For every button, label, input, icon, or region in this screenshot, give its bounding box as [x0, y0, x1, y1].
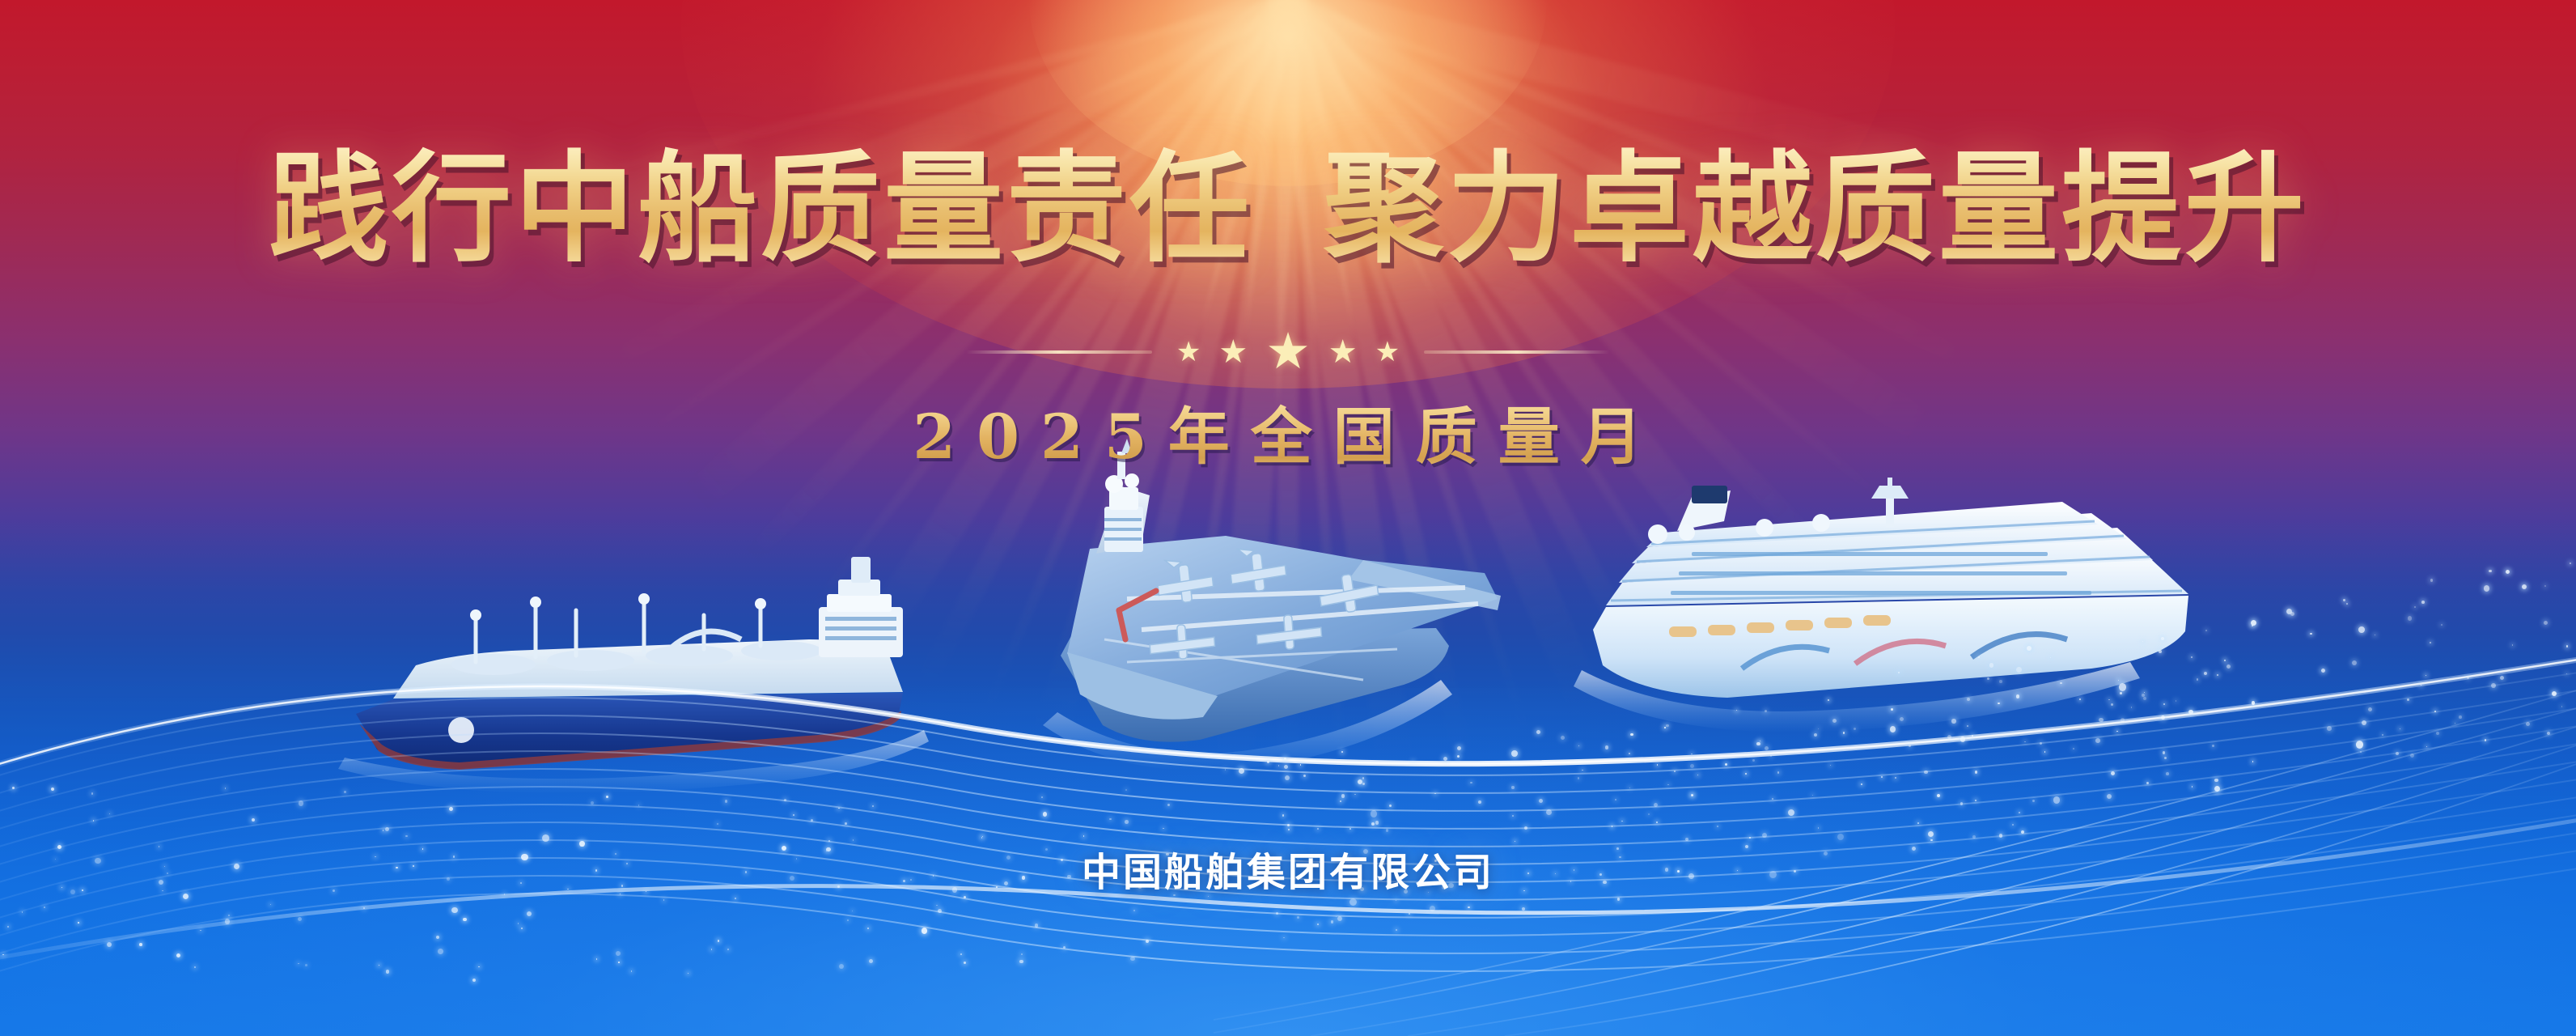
ocean-gradient — [0, 518, 2576, 1036]
sparkle-dot — [1749, 837, 1751, 839]
sparkle-dot — [2204, 672, 2207, 675]
sparkle-dot — [1276, 912, 1278, 915]
sparkle-dot — [2566, 645, 2568, 647]
sparkle-dot — [1760, 741, 1760, 741]
sparkle-dot — [2343, 599, 2345, 601]
sparkle-dot — [1346, 856, 1349, 859]
sparkle-dot — [1478, 800, 1481, 804]
sparkle-dot — [1692, 795, 1693, 796]
sparkle-dot — [845, 822, 847, 825]
sparkle-dot — [1999, 834, 2003, 838]
sparkle-dot — [451, 907, 458, 914]
sparkle-dot — [2252, 701, 2255, 704]
sparkle-dot — [1409, 913, 1410, 915]
sparkle-dot — [1843, 732, 1845, 733]
sparkle-dot — [2544, 585, 2546, 587]
sparkle-dot — [616, 951, 621, 957]
sparkle-dot — [1928, 831, 1934, 837]
quality-month-banner: 践行中船质量责任聚力卓越质量提升 ★ ★ ★ ★ ★ 2025年全国质量月 中国… — [0, 0, 2576, 1036]
sparkle-dot — [1615, 799, 1616, 800]
sparkle-dot — [2144, 692, 2146, 694]
sparkle-dot — [2214, 786, 2220, 792]
sparkle-dot — [2400, 728, 2400, 729]
sparkle-dot — [1239, 768, 1244, 774]
sparkle-dot — [1924, 771, 1928, 775]
sparkle-dot — [1685, 838, 1688, 841]
sparkle-dot — [1267, 761, 1269, 763]
page-title: 践行中船质量责任聚力卓越质量提升 — [0, 142, 2576, 277]
sparkle-dot — [1375, 821, 1379, 824]
sparkle-dot — [1960, 737, 1966, 742]
sparkle-dot — [591, 801, 594, 805]
sparkle-dot — [2251, 620, 2256, 626]
sparkle-dot — [2408, 616, 2413, 621]
sparkle-dot — [1468, 906, 1470, 909]
sparkle-dot — [176, 953, 180, 957]
sparkle-dot — [1648, 813, 1650, 815]
sparkle-dot — [1083, 835, 1084, 836]
sparkle-dot — [952, 887, 958, 893]
sparkle-dot — [646, 891, 647, 893]
sparkle-dot — [936, 905, 938, 906]
sparkle-dot — [2060, 682, 2062, 685]
sparkle-dot — [55, 859, 57, 860]
sea-sheen — [0, 688, 2576, 1036]
sparkle-dot — [1396, 900, 1396, 901]
ray-line — [662, 0, 1292, 800]
sparkle-dot — [1125, 820, 1129, 824]
sparkle-dot — [82, 890, 83, 891]
sparkle-dot — [1546, 809, 1552, 815]
sparkle-dot — [1881, 776, 1883, 778]
sparkle-dot — [1442, 885, 1446, 890]
sparkle-dot — [1167, 804, 1170, 806]
sparkle-dot — [2430, 642, 2431, 643]
sparkle-dot — [1138, 886, 1142, 890]
sparkle-dot — [1282, 814, 1285, 817]
sparkle-dot — [1617, 898, 1620, 900]
sparkle-dot — [2119, 683, 2127, 691]
sparkle-dot — [504, 894, 505, 894]
sparkle-dot — [234, 864, 239, 869]
sparkle-dot — [826, 851, 827, 851]
sparkle-dot — [869, 959, 873, 963]
sparkle-dot — [2012, 824, 2014, 826]
sun-glow — [681, 0, 1895, 388]
sparkle-dot — [1697, 775, 1698, 775]
sparkle-dot — [2522, 584, 2527, 589]
sparkle-dot — [472, 979, 477, 983]
star-icon: ★ — [1265, 327, 1311, 377]
sparkle-dot — [1457, 755, 1460, 758]
sparkle-dot — [2561, 706, 2562, 707]
sparkle-dot — [1978, 656, 1980, 658]
sparkle-dot — [867, 928, 869, 929]
sparkle-dot — [1677, 870, 1680, 873]
sparkle-dot — [2164, 757, 2167, 759]
sparkle-dot — [1555, 873, 1557, 875]
sparkle-dot — [2421, 601, 2425, 604]
sparkle-dot — [1288, 829, 1290, 830]
ray-line — [1283, 0, 2273, 263]
sparkle-dot — [1448, 883, 1454, 889]
subtitle: 2025年全国质量月 — [913, 387, 1663, 476]
sparkle-dot — [2407, 698, 2409, 701]
sparkle-dot — [1737, 870, 1738, 871]
sparkle-dot — [579, 841, 584, 846]
sparkle-dot — [70, 890, 75, 894]
sparkle-dot — [1674, 771, 1676, 772]
sparkle-dot — [139, 943, 142, 946]
sparkle-dot — [1109, 818, 1112, 821]
sparkle-dot — [1975, 800, 1976, 801]
sparkle-dot — [938, 909, 942, 913]
sparkle-dot — [2143, 697, 2146, 700]
sparkle-dot — [784, 799, 786, 801]
sparkle-dot — [1947, 735, 1951, 739]
sparkle-dot — [1035, 923, 1038, 927]
ray-line — [1283, 0, 1363, 1009]
sparkle-dot — [93, 820, 94, 821]
sparkle-dot — [2290, 612, 2294, 616]
sparkle-dot — [1599, 873, 1602, 876]
sparkle-dot — [1457, 746, 1461, 750]
sparkle-dot — [2161, 715, 2165, 720]
sparkle-dot — [2382, 734, 2383, 736]
sparkle-dot — [1477, 862, 1481, 867]
sparkle-dot — [688, 973, 688, 974]
sparkle-dot — [1284, 758, 1286, 760]
sparkle-dot — [1574, 869, 1575, 871]
sparkle-dot — [1019, 960, 1023, 964]
sparkle-dot — [200, 930, 201, 931]
sparkle-dot — [1063, 946, 1066, 949]
sparkle-dot — [1619, 856, 1621, 859]
sparkle-dot — [1752, 759, 1755, 762]
sparkle-dot — [1371, 822, 1375, 826]
sparkle-dot — [1582, 770, 1582, 771]
ray-line — [1142, 0, 1293, 1003]
sparkle-dot — [2166, 772, 2169, 775]
sparkle-dot — [960, 953, 962, 955]
sparkle-dot — [735, 898, 736, 899]
sparkle-dot — [1989, 663, 1993, 667]
sparkle-dot — [2441, 624, 2443, 626]
sparkle-dot — [521, 854, 528, 861]
sparkle-dot — [2489, 570, 2492, 573]
sparkle-dot — [2079, 698, 2081, 700]
sparkle-dot — [2044, 751, 2045, 752]
sparkle-dot — [1756, 742, 1760, 746]
sparkle-dot — [2024, 741, 2025, 742]
sparkle-dot — [520, 882, 522, 884]
sparkle-dot — [1041, 796, 1043, 798]
sparkle-dot — [1341, 751, 1343, 753]
sparkle-dot — [1972, 835, 1976, 839]
sparkle-dot — [51, 788, 54, 791]
sparkle-dot — [2212, 745, 2215, 748]
sparkle-dot — [727, 949, 730, 951]
sparkle-dot — [663, 899, 665, 901]
sparkle-dot — [1818, 728, 1819, 729]
sparkle-dot — [7, 926, 9, 928]
sparkle-dot — [1354, 794, 1356, 796]
sparkle-dot — [2352, 660, 2357, 665]
sparkle-dot — [1389, 805, 1392, 807]
sparkle-dot — [2163, 751, 2166, 754]
sparkle-dot — [717, 823, 718, 825]
sparkle-dot — [1691, 754, 1693, 755]
sparkle-dot — [478, 966, 480, 968]
sparkle-dot — [1769, 871, 1777, 878]
sparkle-dot — [159, 846, 160, 847]
sparkle-dot — [2362, 720, 2366, 725]
sparkle-dot — [1125, 789, 1127, 791]
sparkle-dot — [2455, 723, 2455, 724]
sparkle-dot — [1045, 848, 1048, 851]
sparkle-dot — [1524, 826, 1527, 830]
sparkle-dot — [1284, 765, 1288, 769]
sparkle-dot — [1666, 724, 1669, 728]
sparkle-dot — [1912, 847, 1916, 851]
sparkle-dot — [1303, 775, 1307, 778]
sparkle-dot — [1691, 794, 1693, 796]
sparkle-dot — [1891, 708, 1893, 711]
ray-line — [1277, 0, 1526, 988]
sparkle-dot — [1616, 847, 1619, 850]
sparkle-dot — [1004, 881, 1008, 885]
sparkle-dot — [1349, 898, 1357, 906]
sparkle-dot — [1765, 710, 1767, 712]
sparkle-dot — [1413, 761, 1413, 762]
light-ribbons — [0, 583, 2576, 1036]
subtitle-container: 2025年全国质量月 — [0, 387, 2576, 476]
sparkle-dot — [1772, 798, 1773, 800]
sparkle-dot — [2552, 691, 2557, 696]
sparkle-dot — [1522, 907, 1525, 911]
sparkle-dot — [2146, 782, 2149, 784]
sparkle-dot — [2176, 700, 2176, 701]
sparkle-dot — [2217, 674, 2218, 676]
ray-line — [1277, 0, 2137, 581]
sparkle-dot — [620, 894, 621, 895]
sparkle-dot — [981, 837, 983, 839]
star-icon: ★ — [1218, 336, 1248, 368]
sparkle-dot — [449, 807, 453, 811]
sparkle-dot — [2016, 667, 2022, 673]
sparkle-dot — [621, 885, 624, 887]
sparkle-dot — [2500, 676, 2504, 680]
sparkle-dot — [595, 869, 597, 871]
sparkle-dot — [1690, 764, 1694, 768]
sparkle-dot — [1337, 916, 1342, 921]
aircraft-carrier-ship — [983, 437, 1549, 777]
ray-line — [722, 0, 1303, 859]
sparkle-dot — [1736, 710, 1737, 711]
sparkle-dot — [711, 949, 713, 950]
sparkle-dot — [964, 962, 966, 964]
sparkle-dot — [2310, 633, 2312, 635]
sparkle-dot — [2142, 641, 2143, 642]
company-name: 中国船舶集团有限公司 — [1082, 850, 1494, 895]
sparkle-dot — [521, 928, 523, 929]
sparkle-dot — [1814, 733, 1817, 737]
sparkle-dot — [1629, 788, 1630, 788]
sparkle-dot — [2214, 779, 2218, 783]
sparkle-dot — [1777, 771, 1779, 773]
ray-line — [804, 0, 1298, 898]
sparkle-dot — [413, 865, 414, 867]
ray-line — [578, 0, 1295, 735]
sparkle-dot — [1363, 849, 1368, 854]
sparkle-dot — [159, 880, 163, 885]
sparkle-dot — [2131, 707, 2133, 708]
sparkle-dot — [252, 818, 255, 822]
sparkle-dot — [396, 867, 398, 869]
sparkle-dot — [299, 800, 304, 806]
sparkle-dot — [2467, 677, 2469, 679]
sparkle-dot — [363, 907, 365, 909]
sparkle-dot — [922, 928, 928, 934]
sparkle-dot — [305, 964, 307, 966]
sparkle-dot — [638, 805, 640, 806]
divider-line-right — [1424, 350, 1610, 354]
sparkle-dot — [1527, 873, 1529, 874]
sparkle-dot — [1812, 795, 1813, 796]
sparkle-dot — [405, 835, 408, 838]
sparkle-dot — [1349, 828, 1351, 830]
sparkle-dot — [2321, 669, 2325, 673]
ray-line — [1279, 0, 1773, 898]
sparkle-dot — [1837, 834, 1844, 840]
sparkle-dot — [1434, 860, 1437, 862]
sparkle-dot — [2118, 680, 2119, 681]
sparkle-dot — [2484, 585, 2490, 592]
sparkle-dot — [1362, 777, 1364, 779]
sparkle-dot — [1340, 800, 1341, 802]
sparkle-dot — [2108, 699, 2110, 701]
sparkle-dot — [618, 962, 620, 963]
sparkle-dot — [1951, 719, 1956, 724]
sparkle-dot — [2040, 742, 2042, 745]
sparkle-dot — [1967, 725, 1968, 727]
sparkle-dot — [903, 880, 906, 883]
sparkle-dot — [1279, 857, 1280, 858]
ray-line — [1277, 0, 1299, 1012]
sparkle-dot — [386, 970, 389, 973]
sparkle-dot — [1717, 826, 1718, 827]
sparkle-dot — [1130, 957, 1134, 961]
sparkle-dot — [982, 836, 983, 837]
sparkle-dot — [1430, 906, 1435, 911]
sparkle-dot — [463, 918, 466, 921]
sparkle-dot — [162, 890, 163, 892]
sparkle-dot — [270, 904, 272, 906]
sparkle-dot — [1360, 887, 1364, 891]
sparkle-dot — [1362, 783, 1364, 784]
sparkle-dot — [1937, 794, 1940, 797]
sparkle-dot — [2032, 800, 2035, 802]
sparkle-dot — [2191, 656, 2193, 658]
sparkle-dot — [1536, 730, 1540, 734]
sparkle-dot — [1854, 728, 1856, 730]
ship-fleet — [0, 437, 2576, 809]
sparkle-dot — [838, 808, 840, 809]
sparkle-dot — [2161, 637, 2164, 640]
sparkle-dot — [436, 936, 439, 939]
sparkle-dot — [2159, 650, 2161, 652]
sparkle-dot — [91, 792, 94, 795]
sparkle-dot — [438, 949, 443, 954]
sparkle-dot — [2252, 625, 2254, 627]
sparkle-dot — [1828, 699, 1829, 701]
sparkle-dot — [1762, 833, 1768, 839]
sparkle-dot — [518, 923, 519, 924]
ray-line — [1199, 0, 1307, 1011]
sparkle-dot — [964, 896, 967, 899]
sparkle-dot — [1570, 881, 1572, 882]
sparkle-dot — [1515, 841, 1515, 842]
divider-stars: ★ ★ ★ ★ ★ — [1176, 327, 1400, 377]
main-title-part2: 聚力卓越质量提升 — [1324, 142, 2307, 277]
sparkle-dot — [1895, 777, 1896, 779]
sparkle-dot — [2410, 754, 2414, 758]
sparkle-dot — [1930, 839, 1933, 842]
sparkle-dot — [1443, 757, 1447, 761]
sparkle-dot — [2027, 646, 2032, 651]
sparkle-dot — [606, 796, 608, 798]
sparkle-dot — [782, 846, 787, 851]
sparkle-dot — [228, 915, 230, 916]
ray-line — [1284, 0, 1843, 851]
sparkle-dot — [1428, 892, 1429, 893]
sparkle-dot — [1317, 828, 1319, 830]
sparkle-dot — [567, 889, 569, 890]
sparkle-dot — [1061, 859, 1063, 861]
sparkle-dot — [2430, 579, 2433, 581]
sparkle-dot — [811, 819, 813, 822]
sparkle-dot — [12, 787, 15, 789]
sparkle-dot — [1511, 750, 1518, 757]
sparkle-dot — [2434, 711, 2436, 712]
sparkle-dot — [2566, 673, 2567, 674]
sparkle-dot — [1386, 829, 1389, 832]
ray-line — [1273, 0, 1926, 809]
sparkle-dot — [2021, 830, 2024, 834]
sparkle-dot — [1667, 784, 1668, 785]
sparkle-dot — [2506, 570, 2510, 574]
sparkle-dot — [1133, 910, 1135, 911]
sparkle-dot — [872, 805, 874, 807]
sparkle-dot — [725, 800, 727, 802]
sparkle-dot — [2252, 761, 2253, 762]
sparkle-dot — [826, 847, 831, 852]
sparkle-dot — [2111, 703, 2113, 706]
sparkle-dot — [385, 827, 389, 831]
sparkle-dot — [2360, 751, 2362, 753]
star-icon: ★ — [1176, 338, 1201, 366]
sparkle-dot — [2526, 722, 2530, 726]
sparkle-dot — [1621, 821, 1623, 822]
sparkle-dot — [2421, 685, 2422, 686]
sparkle-dot — [1725, 763, 1727, 766]
sparkle-dot — [2163, 703, 2165, 705]
sparkle-dot — [2188, 710, 2193, 715]
sparkle-dot — [2485, 739, 2487, 741]
sparkle-dot — [1898, 672, 1900, 673]
sparkle-dot — [2226, 664, 2231, 669]
ray-line — [1286, 0, 2234, 367]
